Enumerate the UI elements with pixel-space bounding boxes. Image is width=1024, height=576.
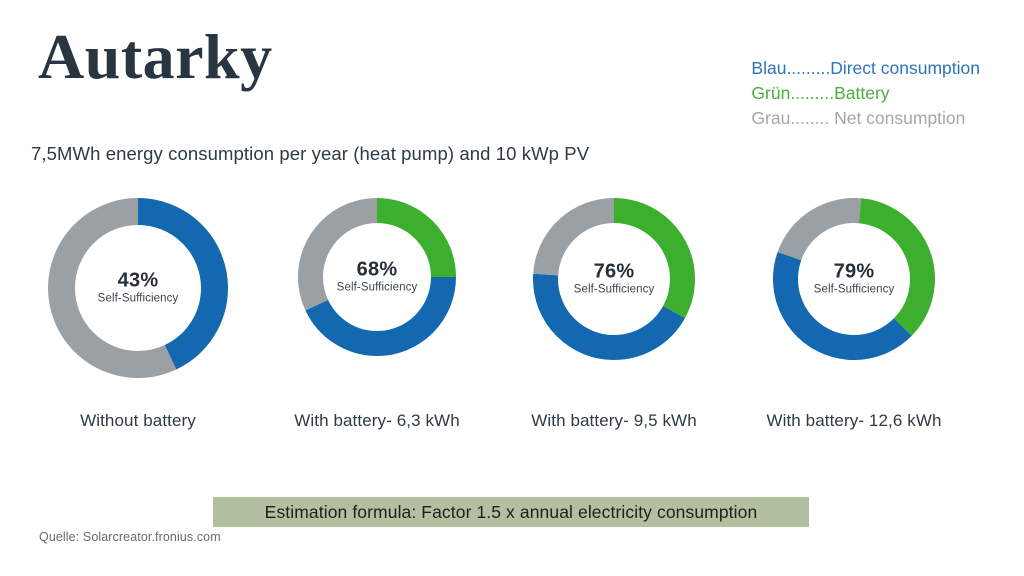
legend-key-gray: Grau <box>751 108 790 128</box>
donut-chart-2: 68%Self-SufficiencyWith battery- 6,3 kWh <box>267 198 487 431</box>
legend-item-gray: Grau........ Net consumption <box>751 106 980 131</box>
page-title: Autarky <box>38 22 273 91</box>
donut-ring-4: 79%Self-Sufficiency <box>773 198 935 360</box>
donut-caption-2: With battery- 6,3 kWh <box>267 411 487 431</box>
donut-ring-2: 68%Self-Sufficiency <box>298 198 456 356</box>
donut-chart-4: 79%Self-SufficiencyWith battery- 12,6 kW… <box>744 198 964 431</box>
subtitle: 7,5MWh energy consumption per year (heat… <box>31 143 589 165</box>
donut-chart-3: 76%Self-SufficiencyWith battery- 9,5 kWh <box>504 198 724 431</box>
legend-dots-gray: ........ <box>790 108 834 128</box>
legend-value-gray: Net consumption <box>834 108 965 128</box>
donut-caption-3: With battery- 9,5 kWh <box>504 411 724 431</box>
estimation-formula-text: Estimation formula: Factor 1.5 x annual … <box>265 502 758 523</box>
donut-caption-1: Without battery <box>28 411 248 431</box>
legend-key-blue: Blau <box>751 58 786 78</box>
legend-value-green: Battery <box>834 83 889 103</box>
donut-chart-row: 43%Self-SufficiencyWithout battery68%Sel… <box>0 198 1024 448</box>
legend-dots-green: ......... <box>790 83 834 103</box>
donut-ring-1: 43%Self-Sufficiency <box>48 198 228 378</box>
legend-value-blue: Direct consumption <box>830 58 980 78</box>
estimation-formula-banner: Estimation formula: Factor 1.5 x annual … <box>213 497 809 527</box>
source-note: Quelle: Solarcreator.fronius.com <box>39 530 221 544</box>
legend-key-green: Grün <box>751 83 790 103</box>
legend-item-blue: Blau.........Direct consumption <box>751 56 980 81</box>
legend-dots-blue: ......... <box>786 58 830 78</box>
legend-item-green: Grün.........Battery <box>751 81 980 106</box>
legend: Blau.........Direct consumption Grün....… <box>751 56 980 131</box>
donut-caption-4: With battery- 12,6 kWh <box>744 411 964 431</box>
donut-chart-1: 43%Self-SufficiencyWithout battery <box>28 198 248 431</box>
donut-ring-3: 76%Self-Sufficiency <box>533 198 695 360</box>
